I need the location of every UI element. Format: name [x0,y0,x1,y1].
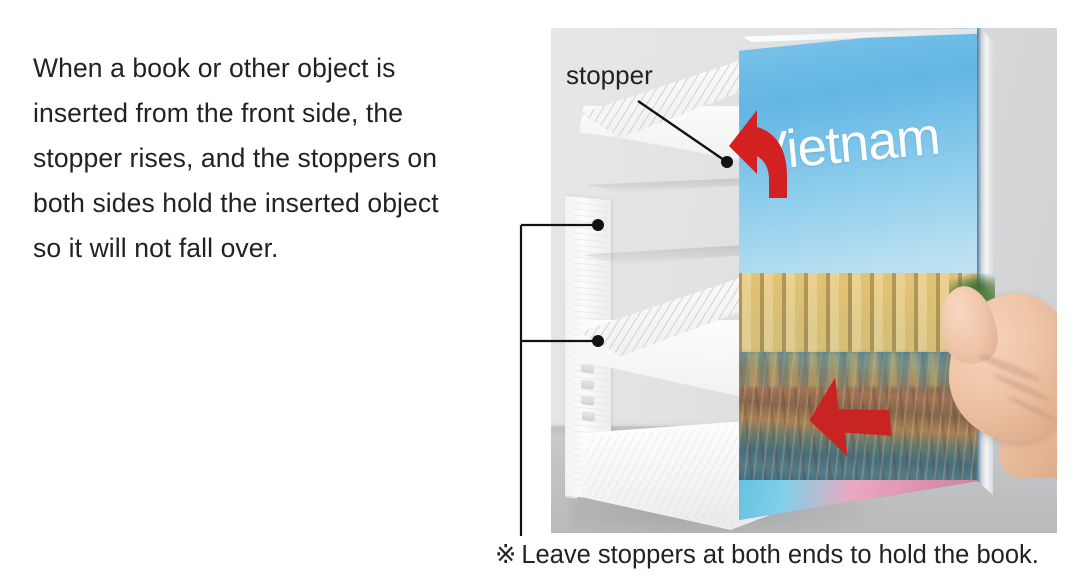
description-line-4: both sides hold the inserted object [33,181,513,226]
description-paragraph: When a book or other object is inserted … [33,46,513,271]
description-line-5: so it will not fall over. [33,226,513,271]
bottom-caption-text: Leave stoppers at both ends to hold the … [521,541,1038,569]
stopper-label: stopper [566,60,653,91]
bottom-caption: ※Leave stoppers at both ends to hold the… [495,538,1039,572]
description-line-1: When a book or other object is [33,46,513,91]
description-line-3: stopper rises, and the stoppers on [33,136,513,181]
reference-mark-icon: ※ [495,541,516,569]
instruction-figure: When a book or other object is inserted … [0,0,1080,587]
description-line-2: inserted from the front side, the [33,91,513,136]
arrow-overlay [551,28,1057,533]
product-photo: Travel Guide Vietnam [551,28,1057,533]
curved-arrow-up-left [729,110,787,198]
arrow-left [805,372,893,460]
